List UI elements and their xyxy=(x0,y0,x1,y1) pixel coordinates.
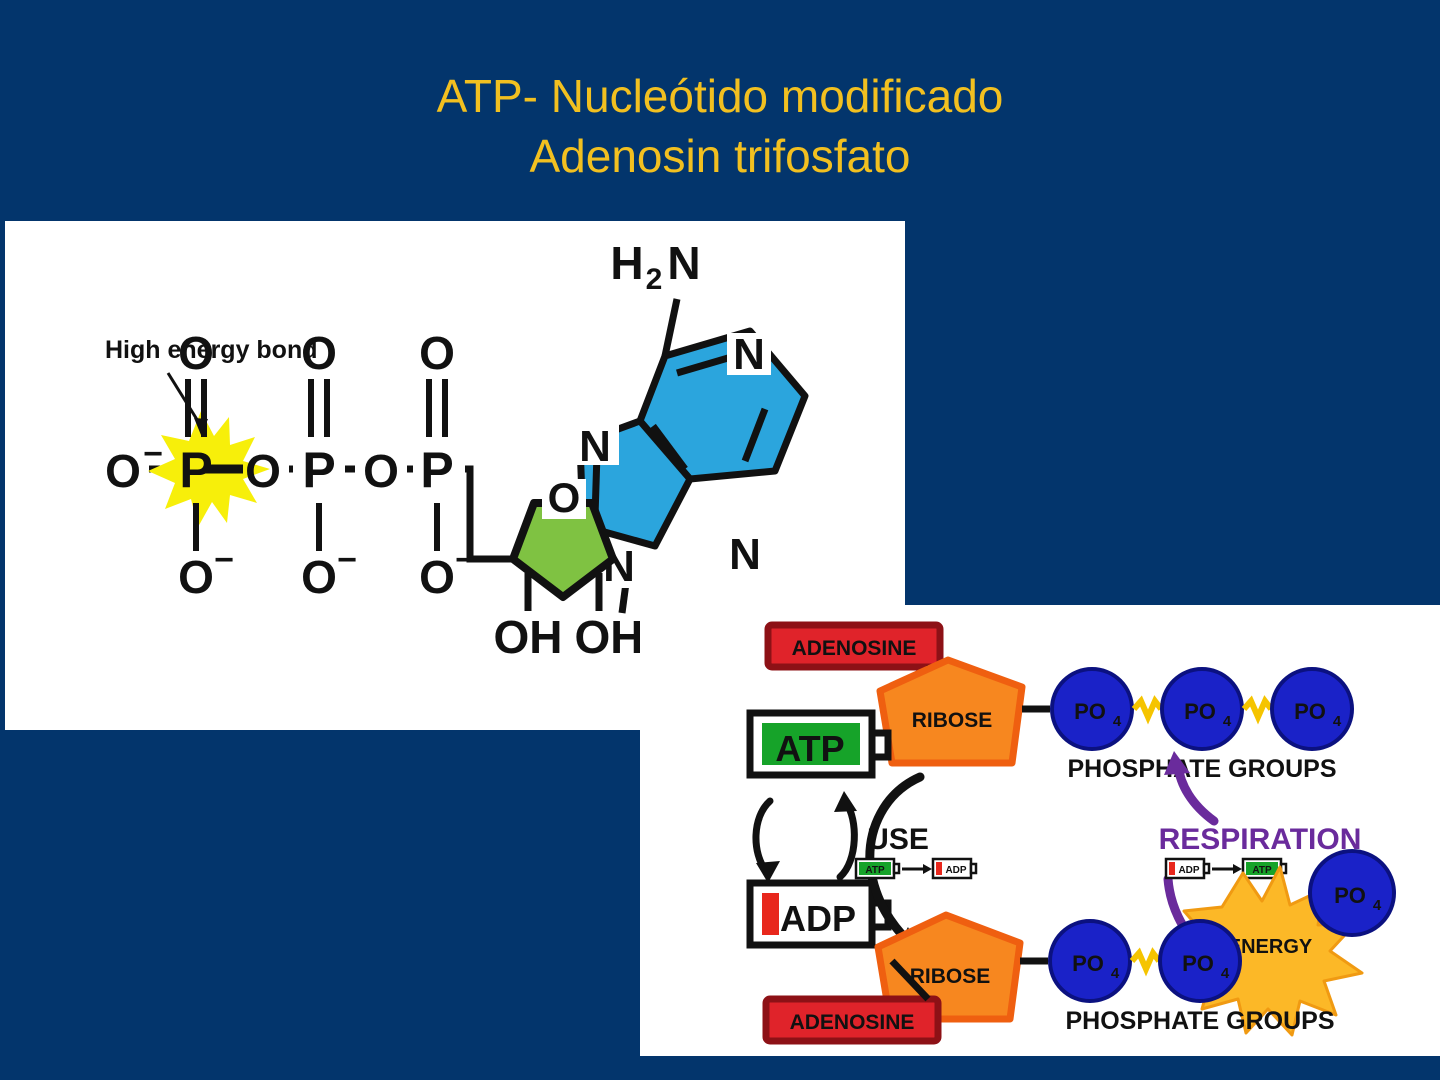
amine-nitrogen-label: N xyxy=(667,237,700,289)
high-energy-zigzag-top-2 xyxy=(1244,701,1271,717)
atp-cycle-image: ADENOSINE RIBOSE PO 4 PO 4 PO 4 PHOSPHAT… xyxy=(640,605,1440,1056)
use-mini-arrow-head xyxy=(923,864,932,874)
page-title-line-2: Adenosin trifosfato xyxy=(0,126,1440,186)
cycle-arrow-down-left xyxy=(756,801,770,871)
cycle-arrow-up-right xyxy=(840,803,854,877)
respiration-process-label: RESPIRATION xyxy=(1159,823,1362,856)
phosphate-sub-bottom-1: 4 xyxy=(1111,965,1120,982)
use-mini-reaction: ATP ADP xyxy=(856,859,976,878)
p1-anion-oxygen: O xyxy=(178,551,214,603)
phosphate-groups-caption-top: PHOSPHATE GROUPS xyxy=(1067,755,1336,783)
annotation-arrow xyxy=(168,373,201,426)
adp-battery-label: ADP xyxy=(780,898,856,939)
use-process-label: USE xyxy=(867,823,929,856)
phosphate-label-top-1: PO xyxy=(1074,699,1106,724)
p3-anion-oxygen: O xyxy=(419,551,455,603)
phosphate-sub-bottom-2: 4 xyxy=(1221,965,1230,982)
adenine-nitrogen-n7: N xyxy=(579,422,611,471)
bridge-oxygen-2: O xyxy=(363,445,399,497)
phosphate-label-top-2: PO xyxy=(1184,699,1216,724)
respiration-mini-reaction: ADP ATP xyxy=(1166,859,1286,878)
amine-bond xyxy=(665,299,677,356)
free-phosphate-sub: 4 xyxy=(1373,897,1382,914)
use-mini-adp-terminal xyxy=(971,864,976,873)
phosphate-sub-top-3: 4 xyxy=(1333,713,1342,730)
resp-mini-adp-terminal xyxy=(1204,864,1209,873)
high-energy-bond-annotation: High energy bond xyxy=(105,336,318,364)
cycle-arrow-up-head xyxy=(834,791,857,812)
phosphorus-atom-2: P xyxy=(302,442,335,498)
hydroxyl-label-right: OH xyxy=(575,611,644,663)
phosphate-sub-top-2: 4 xyxy=(1223,713,1232,730)
phosphate-label-top-3: PO xyxy=(1294,699,1326,724)
use-mini-atp-label: ATP xyxy=(865,865,885,876)
resp-mini-adp-fill xyxy=(1169,862,1175,875)
resp-mini-arrow-head xyxy=(1233,864,1242,874)
use-mini-adp-label: ADP xyxy=(945,865,966,876)
resp-mini-atp-label: ATP xyxy=(1252,865,1272,876)
adenine-nitrogen-n3: N xyxy=(729,530,761,579)
terminal-oxygen-charge: − xyxy=(143,435,163,473)
phosphate-label-bottom-1: PO xyxy=(1072,951,1104,976)
ribose-oxygen-label: O xyxy=(548,474,581,521)
p3-anion-charge: − xyxy=(455,541,475,579)
atp-battery-terminal xyxy=(872,733,888,757)
terminal-oxygen-anion: O xyxy=(105,445,141,497)
amine-group-label: H xyxy=(610,237,643,289)
p2-anion-charge: − xyxy=(337,541,357,579)
p1-anion-charge: − xyxy=(214,541,234,579)
high-energy-zigzag-top-1 xyxy=(1134,701,1161,717)
free-phosphate-label: PO xyxy=(1334,883,1366,908)
phosphorus-atom-3: P xyxy=(420,442,453,498)
atp-battery-label: ATP xyxy=(775,728,844,769)
resp-mini-adp-label: ADP xyxy=(1178,865,1199,876)
phosphate-sub-top-1: 4 xyxy=(1113,713,1122,730)
p2-anion-oxygen: O xyxy=(301,551,337,603)
adenosine-label-bottom: ADENOSINE xyxy=(790,1011,915,1034)
phosphate-label-bottom-2: PO xyxy=(1182,951,1214,976)
amine-subscript: 2 xyxy=(646,263,663,296)
ribose-label-top: RIBOSE xyxy=(912,709,993,732)
use-mini-atp-terminal xyxy=(894,864,899,873)
bridge-oxygen-1: O xyxy=(245,445,281,497)
high-energy-zigzag-bottom-1 xyxy=(1132,953,1159,969)
ribose-label-bottom: RIBOSE xyxy=(910,965,991,988)
slide-title: ATP- Nucleótido modificado Adenosin trif… xyxy=(0,66,1440,186)
p3-double-bond-oxygen: O xyxy=(419,327,455,379)
adenine-nitrogen-n1: N xyxy=(733,330,765,379)
phosphate-groups-caption-bottom: PHOSPHATE GROUPS xyxy=(1065,1007,1334,1035)
hydroxyl-label-left: OH xyxy=(494,611,563,663)
adenosine-label-top: ADENOSINE xyxy=(792,637,917,660)
phosphorus-atom-1: P xyxy=(179,442,212,498)
use-mini-adp-fill xyxy=(936,862,942,875)
adp-battery-charge-fill xyxy=(762,893,779,935)
page-title-line-1: ATP- Nucleótido modificado xyxy=(0,66,1440,126)
